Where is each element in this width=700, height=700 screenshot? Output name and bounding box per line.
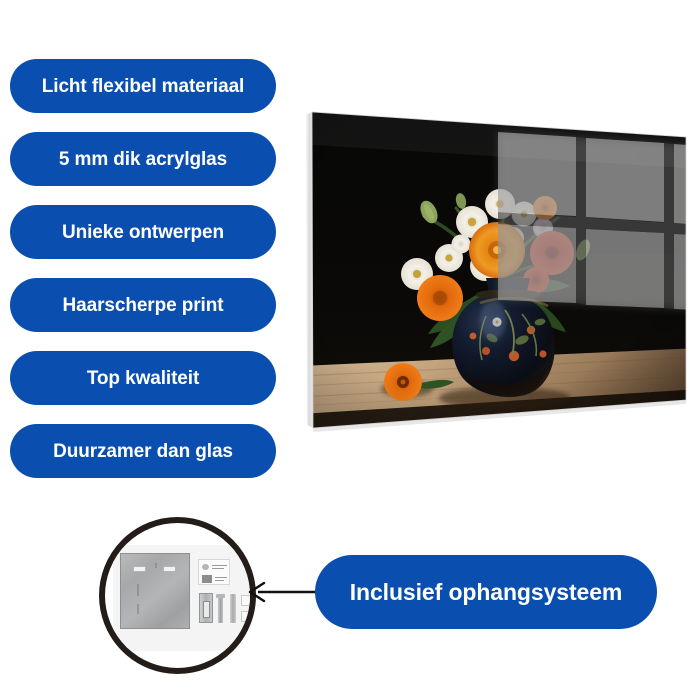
- feature-badge-5-mm-dik-acrylglas[interactable]: 5 mm dik acrylglas: [10, 132, 276, 186]
- mounting-hardware-photo: [113, 545, 255, 651]
- artwork-illustration: [300, 98, 700, 443]
- mounting-system-circle-callout[interactable]: [99, 517, 256, 674]
- wall-plug: [230, 594, 236, 623]
- plate-hook-slot: [133, 566, 146, 572]
- product-feature-page: Licht flexibel materiaal 5 mm dik acrylg…: [0, 0, 700, 700]
- feature-badge-label: 5 mm dik acrylglas: [59, 150, 227, 169]
- feature-badge-label: Licht flexibel materiaal: [42, 77, 244, 96]
- feature-badge-label: Unieke ontwerpen: [62, 223, 224, 242]
- feature-badge-haarscherpe-print[interactable]: Haarscherpe print: [10, 278, 276, 332]
- screw: [218, 594, 223, 623]
- artwork-printed-face: [300, 98, 700, 443]
- callout-connector-line: [258, 578, 320, 606]
- feature-badge-licht-flexibel-materiaal[interactable]: Licht flexibel materiaal: [10, 59, 276, 113]
- callout-badge-inclusief-ophangsysteem[interactable]: Inclusief ophangsysteem: [315, 555, 657, 629]
- feature-badge-label: Top kwaliteit: [87, 369, 199, 388]
- feature-badge-label: Duurzamer dan glas: [53, 442, 233, 461]
- callout-badge-label: Inclusief ophangsysteem: [350, 581, 623, 604]
- plate-marking: [155, 563, 157, 568]
- feature-badge-label: Haarscherpe print: [63, 296, 224, 315]
- feature-badge-duurzamer-dan-glas[interactable]: Duurzamer dan glas: [10, 424, 276, 478]
- acrylic-artwork-panel[interactable]: [300, 98, 700, 443]
- plate-marking: [137, 604, 139, 614]
- feature-badge-unieke-ontwerpen[interactable]: Unieke ontwerpen: [10, 205, 276, 259]
- plate-hook-slot: [163, 566, 176, 572]
- instruction-leaflet: [198, 559, 230, 585]
- mounting-plate: [120, 553, 190, 629]
- wall-bracket: [199, 593, 213, 623]
- plate-marking: [137, 584, 139, 596]
- spacer-pad: [241, 611, 252, 622]
- feature-badge-top-kwaliteit[interactable]: Top kwaliteit: [10, 351, 276, 405]
